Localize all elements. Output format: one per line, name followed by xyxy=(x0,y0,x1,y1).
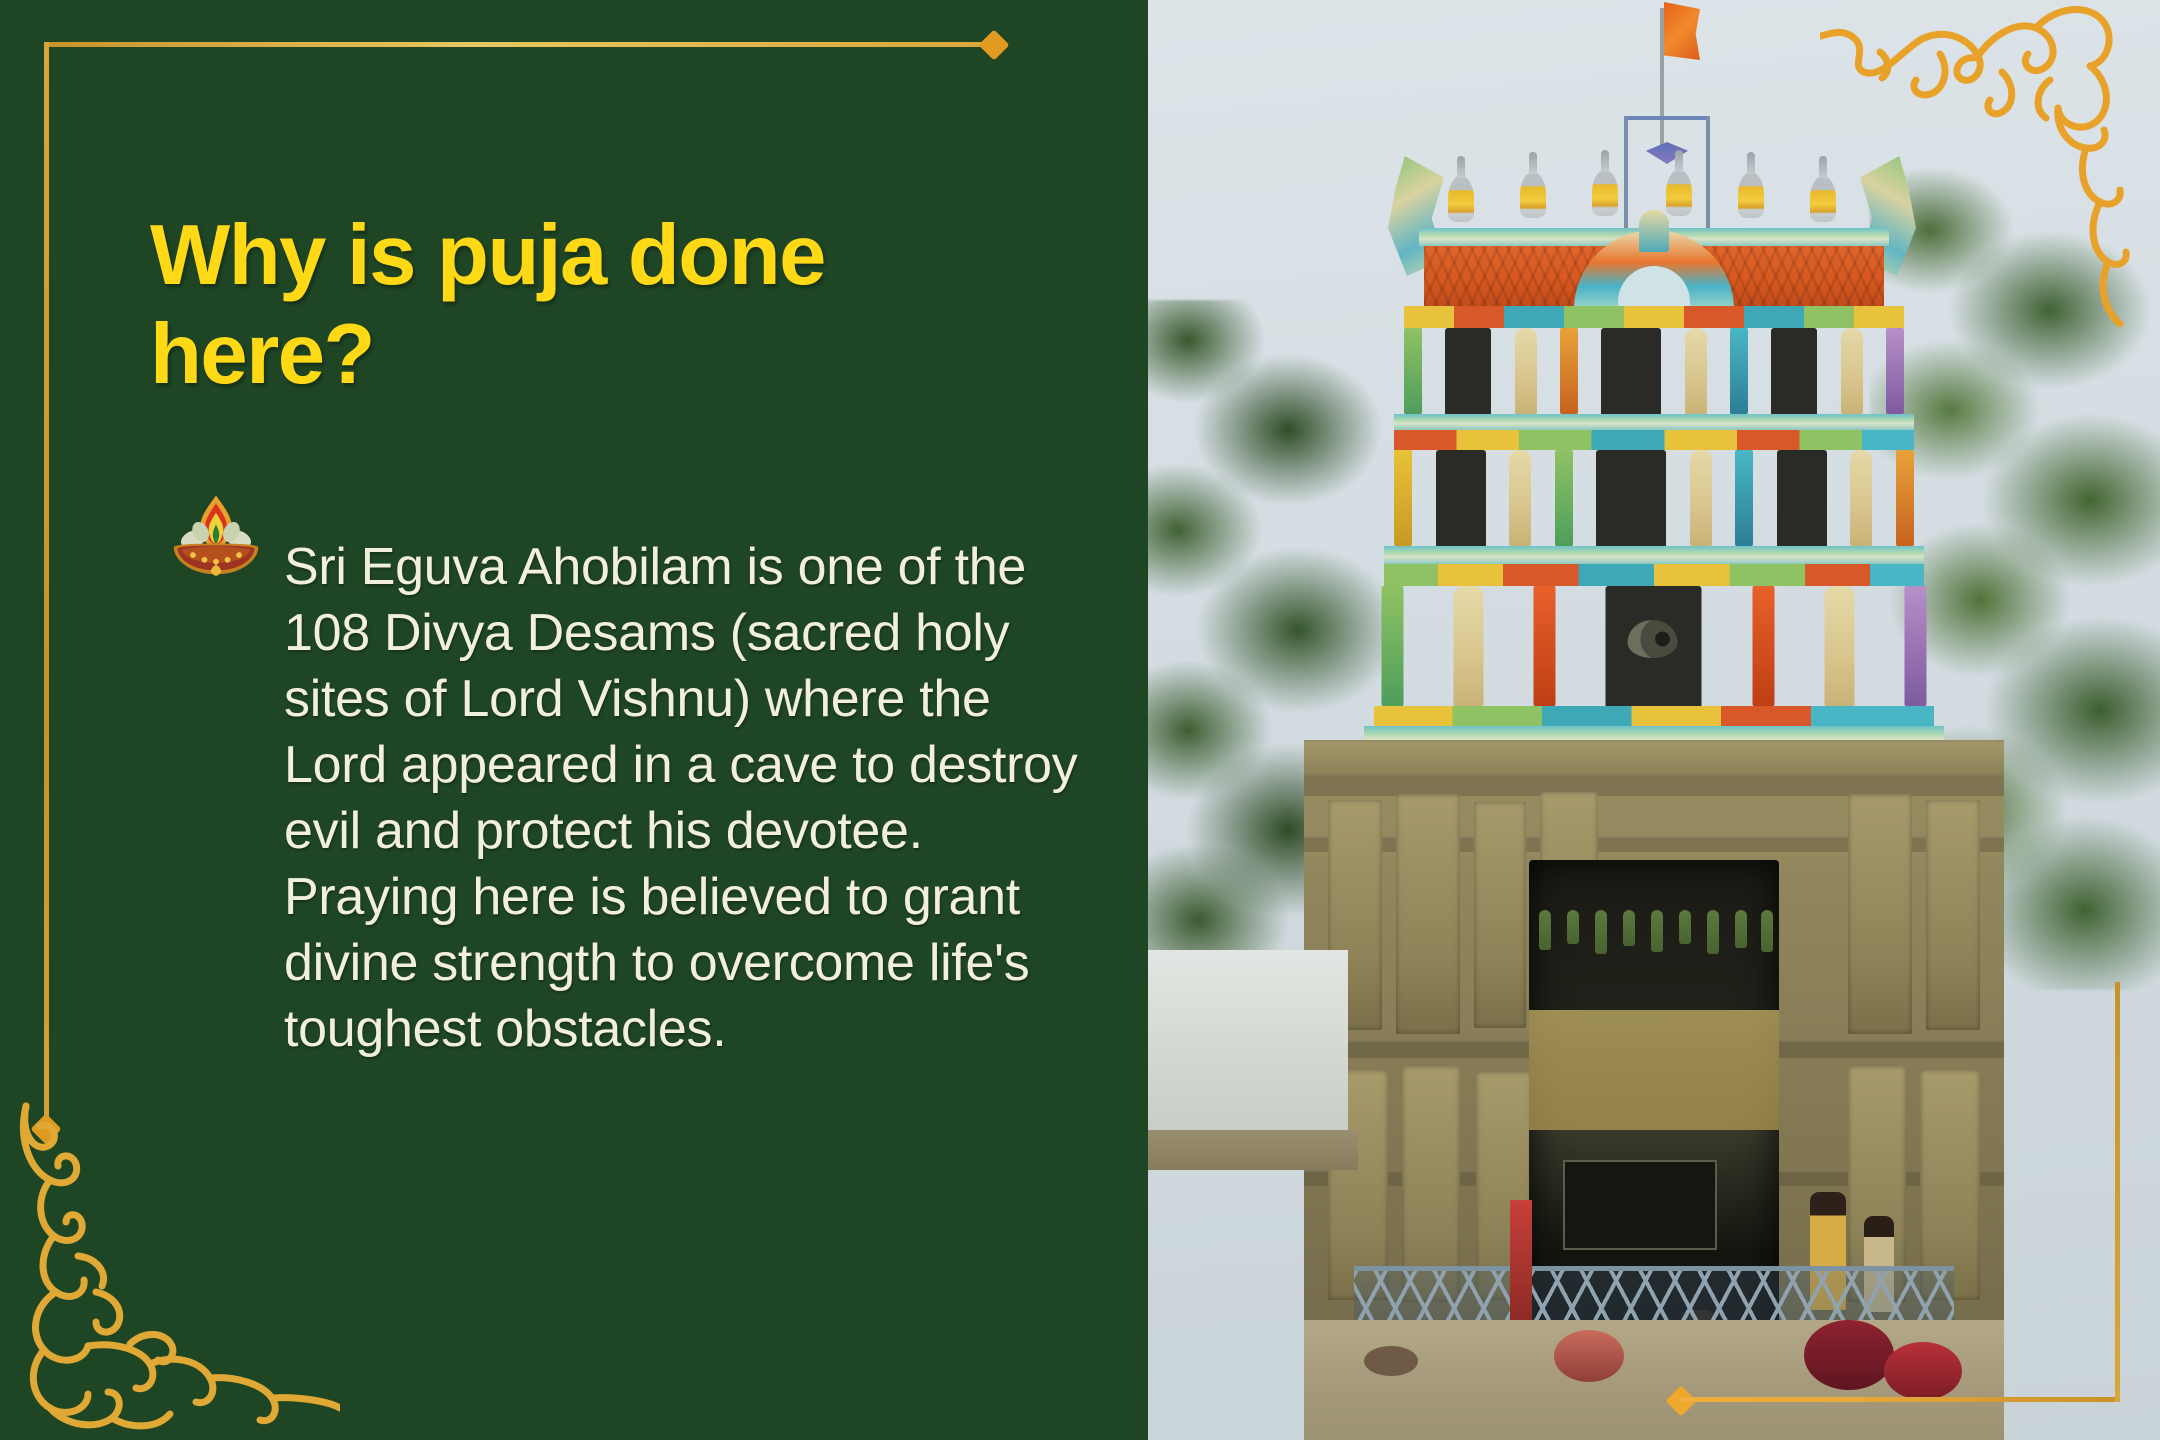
niche xyxy=(1771,328,1817,414)
garland-leaf xyxy=(1539,910,1551,950)
carved-pilaster xyxy=(1396,794,1460,1034)
kalasha-finial xyxy=(1592,170,1618,216)
garland-leaf xyxy=(1735,910,1747,948)
temple-flag xyxy=(1664,2,1700,60)
tier3-band xyxy=(1384,564,1924,586)
pillar xyxy=(1735,450,1753,546)
flag-frame-right xyxy=(1706,116,1710,236)
slide-canvas: Why is puja done here? xyxy=(0,0,2160,1440)
arch-crest-deity xyxy=(1639,210,1669,252)
pillar xyxy=(1555,450,1573,546)
deity-statue xyxy=(1509,450,1531,546)
compound-wall xyxy=(1148,950,1348,1140)
corner-bracket-right-vertical xyxy=(2115,982,2120,1402)
tier2-band xyxy=(1394,430,1914,450)
niche xyxy=(1445,328,1491,414)
kalasha-finial xyxy=(1738,172,1764,218)
toran-leaf-garland xyxy=(1533,910,1775,958)
compound-wall-shadow xyxy=(1148,1130,1358,1170)
niche-loudspeaker xyxy=(1606,586,1702,706)
corner-bracket-top-horizontal xyxy=(44,42,994,47)
dancing-figure xyxy=(1454,586,1484,706)
carved-pilaster xyxy=(1474,802,1526,1028)
stone-course xyxy=(1304,774,2004,796)
cornice-tier1 xyxy=(1394,414,1914,430)
gopuram-tower xyxy=(1374,60,1934,760)
ground-object xyxy=(1804,1320,1894,1390)
corner-bracket-bottom-horizontal xyxy=(1680,1397,2120,1402)
garland-leaf xyxy=(1679,910,1691,944)
ground-object xyxy=(1884,1342,1962,1400)
garland-leaf xyxy=(1623,910,1635,946)
garland-leaf xyxy=(1707,910,1719,954)
tier2-pillars xyxy=(1394,450,1914,546)
niche xyxy=(1596,450,1666,546)
tier3-pillars xyxy=(1382,586,1927,706)
niche xyxy=(1436,450,1486,546)
stone-gateway-base xyxy=(1304,740,2004,1440)
pillar xyxy=(1752,586,1774,706)
dancing-figure xyxy=(1824,586,1854,706)
garland-leaf xyxy=(1761,910,1773,952)
pillar xyxy=(1534,586,1556,706)
ground-object xyxy=(1364,1346,1418,1376)
corner-bracket-left-vertical xyxy=(44,42,49,1132)
tier3-lower-band xyxy=(1374,706,1934,726)
pillar xyxy=(1730,328,1748,414)
temple-ground xyxy=(1304,1320,2004,1440)
kalasha-finial xyxy=(1810,176,1836,222)
deity-statue xyxy=(1841,328,1863,414)
niche xyxy=(1777,450,1827,546)
deity-statue xyxy=(1690,450,1712,546)
tier1-pillars xyxy=(1404,328,1904,414)
temple-photo xyxy=(1148,0,2160,1440)
garland-leaf xyxy=(1567,910,1579,944)
loudspeaker-icon xyxy=(1628,620,1678,658)
notice-board xyxy=(1563,1160,1717,1250)
niche xyxy=(1601,328,1661,414)
deity-statue xyxy=(1850,450,1872,546)
cornice-tier2 xyxy=(1384,546,1924,564)
flag-frame xyxy=(1624,116,1710,120)
pillar xyxy=(1404,328,1422,414)
pillar xyxy=(1394,450,1412,546)
body-block: Sri Eguva Ahobilam is one of the 108 Div… xyxy=(168,482,1108,1114)
garland-leaf xyxy=(1595,910,1607,954)
pillar xyxy=(1904,586,1926,706)
kalasha-finial xyxy=(1448,176,1474,222)
page-title: Why is puja done here? xyxy=(150,207,940,404)
red-pillar-marker xyxy=(1510,1200,1532,1320)
deity-statue xyxy=(1685,328,1707,414)
garland-leaf xyxy=(1651,910,1663,952)
kalasha-finial xyxy=(1520,172,1546,218)
pillar xyxy=(1886,328,1904,414)
deity-statue xyxy=(1515,328,1537,414)
body-paragraph: Sri Eguva Ahobilam is one of the 108 Div… xyxy=(284,534,1104,1062)
carved-pilaster xyxy=(1926,800,1980,1030)
kalasha-finial xyxy=(1666,170,1692,216)
carved-pilaster xyxy=(1848,794,1912,1034)
ground-object xyxy=(1554,1330,1624,1382)
diya-lamp-icon xyxy=(168,484,264,580)
doorway-inner-light xyxy=(1529,1010,1779,1130)
tier1-band xyxy=(1404,306,1904,328)
flag-frame-left xyxy=(1624,116,1628,236)
stone-course xyxy=(1304,740,2004,776)
pillar xyxy=(1896,450,1914,546)
pillar xyxy=(1382,586,1404,706)
pillar xyxy=(1560,328,1578,414)
flag-pole xyxy=(1660,8,1664,158)
